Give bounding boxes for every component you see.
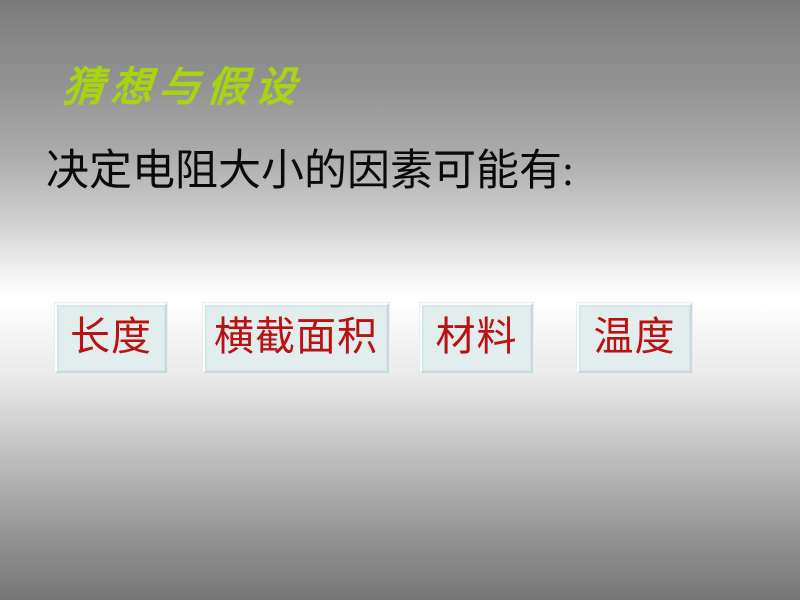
factor-label: 横截面积 [214, 315, 378, 361]
factor-box-inner: 横截面积 [205, 305, 387, 371]
factor-box-temperature[interactable]: 温度 [577, 303, 692, 373]
factor-box-inner: 长度 [57, 305, 165, 371]
factor-label: 温度 [594, 315, 676, 361]
factor-box-cross-sectional-area[interactable]: 横截面积 [203, 303, 389, 373]
factor-box-row: 长度 横截面积 材料 温度 [0, 303, 800, 375]
factor-box-material[interactable]: 材料 [420, 303, 533, 373]
factor-label: 材料 [436, 315, 518, 361]
factor-label: 长度 [70, 315, 152, 361]
slide-title: 猜想与假设 [61, 62, 304, 112]
presentation-slide: 猜想与假设 决定电阻大小的因素可能有: 长度 横截面积 材料 温度 [0, 0, 800, 600]
factor-box-length[interactable]: 长度 [55, 303, 167, 373]
factor-box-inner: 温度 [579, 305, 690, 371]
slide-subtitle: 决定电阻大小的因素可能有: [46, 146, 574, 198]
factor-box-inner: 材料 [422, 305, 531, 371]
